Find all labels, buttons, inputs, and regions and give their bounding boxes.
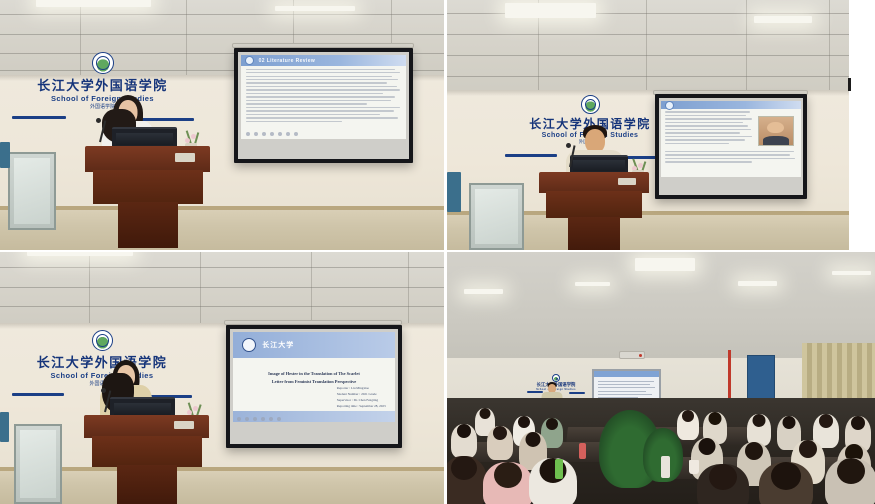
edge-marker <box>848 78 851 91</box>
ceiling-light <box>575 282 609 286</box>
slide-thesis-title: 长江大学 Image of Hester in the Translation … <box>233 332 396 422</box>
ceiling <box>447 0 862 95</box>
wall-cabinet <box>14 424 62 504</box>
lecture-room-scene-bl: 长江大学外国语学院 School of Foreign Studies 外国语学… <box>0 252 444 504</box>
top-right-photo: 长江大学外国语学院 School of Foreign Studies 外国语学… <box>447 0 862 250</box>
ceiling-light <box>27 252 134 256</box>
slide-header-title: 02 Literature Review <box>259 58 316 64</box>
wall-cabinet <box>469 183 524 250</box>
water-bottle <box>579 443 586 459</box>
slide-meta-date: Reporting time : September 28, 2023 <box>337 403 386 409</box>
university-emblem-icon <box>581 95 600 114</box>
audience-member <box>487 426 513 460</box>
door <box>747 355 775 403</box>
projector-screen: 02 Literature Review <box>234 48 413 163</box>
audience-member <box>451 424 477 458</box>
audience-member-foreground <box>697 464 749 504</box>
bottom-left-photo: 长江大学外国语学院 School of Foreign Studies 外国语学… <box>0 252 444 504</box>
wall-cabinet <box>8 152 56 230</box>
wall-sign-chinese: 长江大学外国语学院 <box>10 75 195 94</box>
slide-header-bar <box>594 371 659 377</box>
lectern-nameplate <box>175 153 195 162</box>
audience-member-foreground <box>529 458 577 504</box>
audience-member-foreground <box>825 458 875 504</box>
lectern-nameplate <box>618 178 636 185</box>
ceiling-light <box>832 271 871 276</box>
water-bottle <box>555 459 563 479</box>
ceiling-light <box>36 0 151 7</box>
lecture-room-scene-tl: 长江大学外国语学院 School of Foreign Studies 外国语学… <box>0 0 444 250</box>
slide-portrait-photo <box>758 116 794 146</box>
slide-title-line-1: Image of Hester in the Translation of Th… <box>249 370 379 378</box>
slide-literature-review: 02 Literature Review <box>241 55 407 138</box>
equipment-box <box>0 142 10 168</box>
university-emblem-icon <box>552 374 560 382</box>
lectern <box>85 146 210 246</box>
slide-university-name: 长江大学 <box>262 340 294 350</box>
university-emblem-icon <box>92 330 113 351</box>
microphone-head-icon <box>101 388 106 393</box>
paper-cup <box>689 460 699 474</box>
slide-text-body-lower <box>665 151 796 177</box>
ceiling <box>0 252 444 328</box>
ceiling-light <box>635 258 695 271</box>
ceiling-light <box>464 289 503 294</box>
slide-title-band: 长江大学 <box>233 332 396 357</box>
audience-member-foreground <box>447 456 487 504</box>
top-left-photo: 长江大学外国语学院 School of Foreign Studies 外国语学… <box>0 0 444 250</box>
slide-header-bar <box>661 101 801 109</box>
ceiling-projector <box>619 351 645 359</box>
ceiling-light <box>738 281 777 286</box>
microphone-head-icon <box>96 118 101 123</box>
slide-header-bar: 02 Literature Review <box>241 55 407 66</box>
ceiling-light <box>275 6 355 11</box>
equipment-box <box>447 172 461 212</box>
water-bottle <box>661 456 670 478</box>
audience-member <box>677 410 699 440</box>
projector-screen: 长江大学 Image of Hester in the Translation … <box>226 325 402 448</box>
university-emblem-icon <box>242 338 256 352</box>
audience-member-foreground <box>483 462 533 504</box>
lectern <box>84 415 209 504</box>
classroom-wide-scene: 长江大学外国语学院 School of Foreign Studies <box>447 252 875 504</box>
slide-with-portrait <box>661 101 801 177</box>
slide-meta-block: Reporter : Liu Mingxiao Student Number :… <box>337 385 386 409</box>
slide-footer-icons <box>237 417 281 421</box>
ceiling-light <box>754 16 812 23</box>
audience-member-foreground <box>759 462 813 504</box>
slide-logo-icon <box>665 101 674 110</box>
slide-text-body <box>246 69 402 127</box>
photo-right-margin <box>849 0 862 250</box>
lectern-nameplate <box>174 421 194 429</box>
university-emblem-icon <box>92 52 114 74</box>
slide-logo-icon <box>245 56 254 65</box>
floor <box>0 471 444 504</box>
bottom-right-photo: 长江大学外国语学院 School of Foreign Studies <box>447 252 875 504</box>
microphone-head-icon <box>566 143 571 148</box>
ceiling-light <box>505 3 596 18</box>
projector-screen <box>655 94 807 199</box>
photo-collage: 长江大学外国语学院 School of Foreign Studies 外国语学… <box>0 0 875 504</box>
lectern <box>539 172 649 250</box>
floor <box>0 210 444 250</box>
slide-footer-icons <box>246 132 298 136</box>
equipment-box <box>0 412 9 442</box>
lecture-room-scene-tr: 长江大学外国语学院 School of Foreign Studies 外国语学… <box>447 0 862 250</box>
